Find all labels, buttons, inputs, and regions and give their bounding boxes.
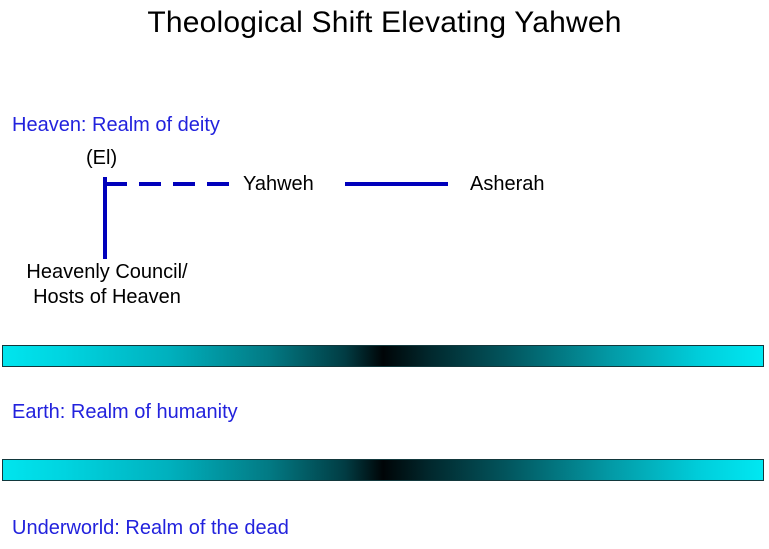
- realm-label-underworld: Underworld: Realm of the dead: [12, 517, 289, 540]
- deity-node-asherah: Asherah: [470, 173, 545, 196]
- realm-label-heaven: Heaven: Realm of deity: [12, 114, 220, 137]
- connector-el-to-heavenly-council: [103, 177, 107, 259]
- earth-underworld-divider: [2, 459, 764, 481]
- heavenly-council-line-2: Hosts of Heaven: [8, 285, 206, 310]
- deity-node-el: (El): [86, 147, 117, 170]
- deity-node-yahweh: Yahweh: [243, 173, 314, 196]
- heavenly-council-line-1: Heavenly Council/: [8, 260, 206, 285]
- heavenly-council-label: Heavenly Council/ Hosts of Heaven: [8, 260, 206, 310]
- realm-label-earth: Earth: Realm of humanity: [12, 401, 238, 424]
- slide-canvas: Theological Shift Elevating Yahweh Heave…: [0, 0, 769, 549]
- heaven-earth-divider: [2, 345, 764, 367]
- connector-el-to-yahweh-dashed: [105, 182, 238, 186]
- page-title: Theological Shift Elevating Yahweh: [0, 6, 769, 40]
- connector-yahweh-to-asherah-solid: [345, 182, 448, 186]
